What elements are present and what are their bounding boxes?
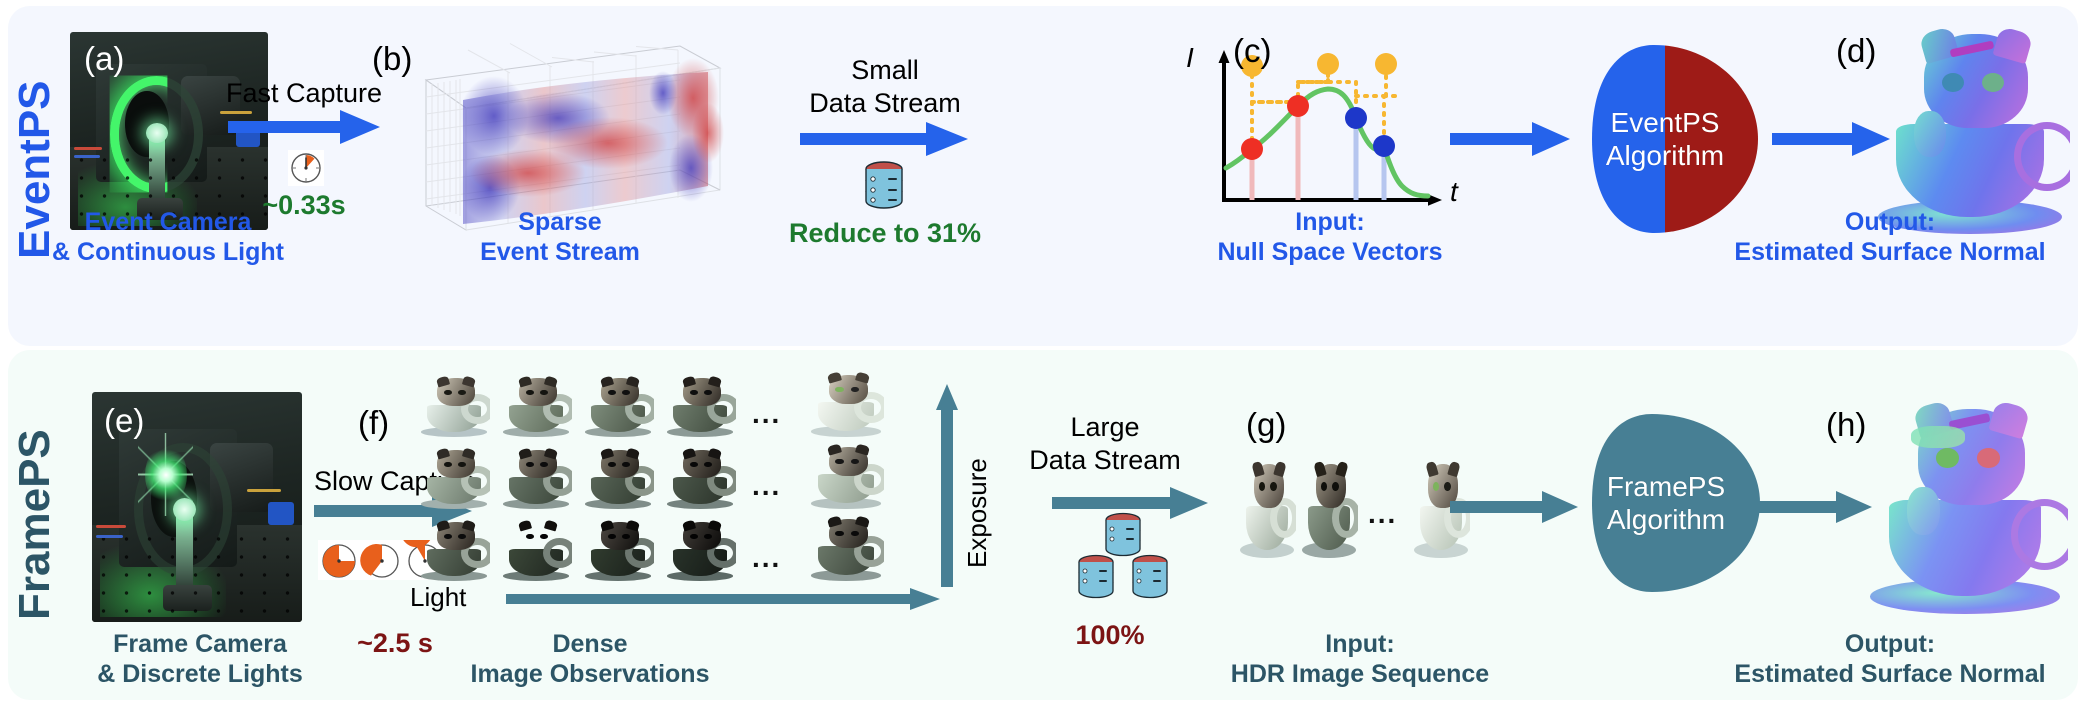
panel-g-caption-line2: HDR Image Sequence [1200,660,1520,690]
event-marker-1 [1241,138,1263,160]
large-data-stream-label-line1: Large [1010,412,1200,443]
panel-f-cell [500,448,572,510]
panel-h-caption-line2: Estimated Surface Normal [1700,660,2080,690]
panel-e-tag: (e) [104,402,144,440]
database-icon [858,160,910,210]
panel-d-normal-map [1870,26,2070,238]
panel-f-cell [418,376,490,438]
panel-b-caption-line2: Event Stream [430,238,690,268]
panel-g-cell [1238,460,1296,560]
panel-f-cell [582,376,654,438]
panel-f-cell [582,448,654,510]
panel-g-tag: (g) [1246,406,1286,444]
panel-f-cell [582,520,654,582]
panel-f-cell [664,448,736,510]
panel-f-ellipsis: ... [752,398,781,430]
null-space-vector-3 [1375,53,1397,75]
panel-f-light-axis-label: Light [410,582,466,613]
panel-f-cell [808,444,884,510]
fast-capture-arrow-icon [228,108,380,146]
large-data-stream-percent: 100% [1030,620,1190,651]
panel-f-ellipsis: ... [752,542,781,574]
figure-root: EventPS FramePS (a) Event Camera & Conti… [0,0,2086,706]
small-data-stream-label-line1: Small [790,55,980,86]
panel-c-caption-line1: Input: [1180,208,1480,238]
frameps-input-arrow-icon [1450,490,1578,524]
panel-c-chart [1206,48,1456,228]
light-axis-arrow-icon [506,588,940,610]
null-space-vector-2 [1317,53,1339,75]
panel-e-caption-line2: & Discrete Lights [40,660,360,690]
event-marker-2 [1287,95,1309,117]
panel-d-tag: (d) [1836,32,1876,70]
frameps-algorithm-label-line1: FramePS [1607,470,1725,503]
panel-f-tag: (f) [358,404,389,442]
panel-f-cell [664,520,736,582]
fast-capture-label: Fast Capture [224,78,384,109]
panel-f-caption-line2: Image Observations [410,660,770,690]
panel-f-cell [808,516,884,582]
panel-h-tag: (h) [1826,406,1866,444]
frameps-output-arrow-icon [1742,490,1872,524]
panel-f-caption-line1: Dense [410,630,770,660]
panel-b-tag: (b) [372,40,412,78]
exposure-axis-arrow-icon [936,382,958,587]
eventps-algorithm-label-line2: Algorithm [1606,139,1724,172]
small-data-stream-arrow-icon [800,120,968,158]
panel-f-cell [418,520,490,582]
panel-f-cell [500,520,572,582]
panel-f-exposure-axis-label: Exposure [962,418,993,568]
frameps-algorithm-shape: FramePS Algorithm [1570,412,1762,594]
panel-b-caption-line1: Sparse [430,208,690,238]
clock-icon [288,150,324,186]
panel-f-ellipsis: ... [752,470,781,502]
database-icon [1070,512,1176,604]
large-data-stream-label-line2: Data Stream [1010,445,1200,476]
panel-f-cell [664,376,736,438]
event-marker-3 [1345,107,1367,129]
panel-a-caption-line2: & Continuous Light [18,238,318,268]
eventps-algorithm-label-line1: EventPS [1611,106,1720,139]
small-data-stream-percent: Reduce to 31% [770,218,1000,249]
small-data-stream-label-line2: Data Stream [790,88,980,119]
panel-g-cell [1300,460,1358,560]
panel-a-tag: (a) [84,40,124,78]
eventps-algorithm-shape: EventPS Algorithm [1570,43,1760,235]
panel-c-x-axis-label: t [1450,176,1458,208]
panel-c-caption-line2: Null Space Vectors [1180,238,1480,268]
panel-g-ellipsis: ... [1368,498,1397,530]
panel-d-caption-line1: Output: [1700,208,2080,238]
row-label-frameps: FramePS [10,400,60,650]
frameps-algorithm-label-line2: Algorithm [1607,503,1725,536]
panel-f-cell [418,448,490,510]
panel-c-tag: (c) [1233,32,1271,70]
panel-d-caption-line2: Estimated Surface Normal [1700,238,2080,268]
panel-c-y-axis-label: I [1186,42,1194,74]
panel-f-cell [808,372,884,438]
panel-h-normal-map [1862,400,2068,618]
panel-g-caption-line1: Input: [1200,630,1520,660]
fast-capture-time: ~0.33s [224,190,384,221]
panel-f-cell [500,376,572,438]
panel-h-caption-line1: Output: [1700,630,2080,660]
event-marker-4 [1373,135,1395,157]
eventps-input-arrow-icon [1450,120,1570,158]
